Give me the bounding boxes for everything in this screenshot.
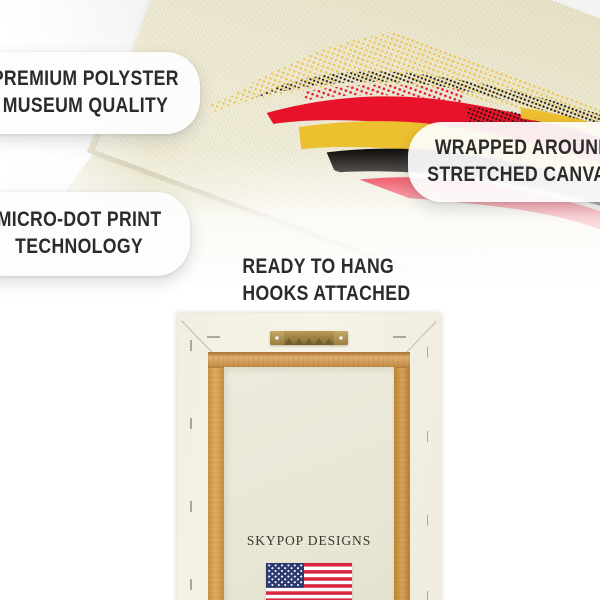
hanger-screw-hole xyxy=(339,336,343,340)
staple xyxy=(207,336,220,338)
badge-line-2: TECHNOLOGY xyxy=(15,234,143,261)
feature-badge-micro-dot-print: MICRO-DOT PRINT TECHNOLOGY xyxy=(0,192,190,276)
hanger-screw-plate-right xyxy=(334,331,348,345)
sawtooth-hanger xyxy=(270,331,348,345)
staple xyxy=(427,591,429,600)
badge-line-1: WRAPPED AROUND xyxy=(435,135,600,162)
canvas-back-surface: SKYPOP DESIGNS xyxy=(224,367,394,600)
stretcher-bar-top-bevel xyxy=(208,352,410,356)
canvas-back-photo: SKYPOP DESIGNS xyxy=(0,300,600,600)
feature-badge-premium-polyster: PREMIUM POLYSTER MUSEUM QUALITY xyxy=(0,52,200,134)
staple xyxy=(190,501,192,512)
headline-line-1: READY TO HANG xyxy=(242,253,393,280)
staple xyxy=(190,579,192,590)
staple xyxy=(190,340,192,351)
staple xyxy=(393,336,406,338)
hanger-screw-hole xyxy=(275,336,279,340)
hanger-teeth xyxy=(284,331,334,345)
badge-line-2: STRETCHED CANVAS xyxy=(427,162,600,189)
badge-line-2: MUSEUM QUALITY xyxy=(2,93,167,120)
united-states-flag-icon xyxy=(266,563,352,600)
badge-line-1: PREMIUM POLYSTER xyxy=(0,66,179,93)
wooden-stretcher-frame: SKYPOP DESIGNS xyxy=(208,352,410,600)
canvas-back-panel: SKYPOP DESIGNS xyxy=(177,313,441,600)
stretcher-bar-right xyxy=(394,352,410,600)
stretcher-bar-left xyxy=(208,352,224,600)
staple xyxy=(427,515,429,526)
staple xyxy=(190,418,192,429)
brand-name: SKYPOP DESIGNS xyxy=(224,533,394,549)
feature-badge-wrapped-around: WRAPPED AROUND STRETCHED CANVAS xyxy=(408,122,600,202)
badge-line-1: MICRO-DOT PRINT xyxy=(0,207,161,234)
product-feature-graphic: PREMIUM POLYSTER MUSEUM QUALITY WRAPPED … xyxy=(0,0,600,600)
staple xyxy=(427,431,429,442)
staple xyxy=(427,347,429,358)
hanger-screw-plate-left xyxy=(270,331,284,345)
